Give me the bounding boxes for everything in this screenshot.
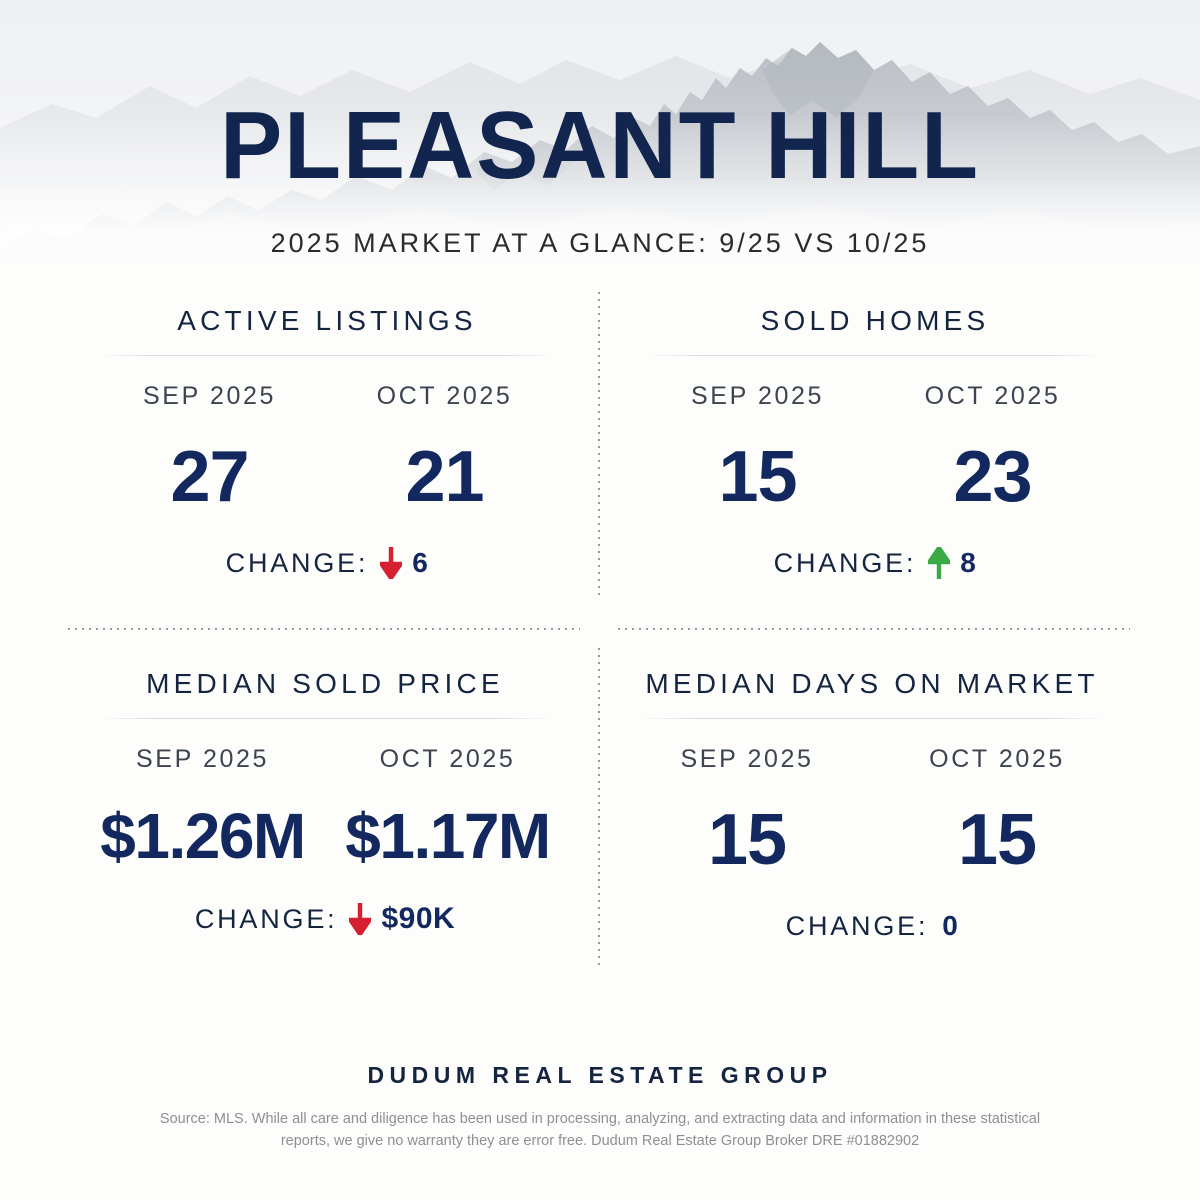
arrow-down-icon bbox=[380, 547, 402, 579]
month-label-right: OCT 2025 bbox=[325, 745, 570, 774]
card-title: SOLD HOMES bbox=[640, 305, 1110, 337]
value-left: 27 bbox=[92, 441, 327, 513]
card-rule bbox=[107, 355, 547, 356]
card-rule bbox=[105, 718, 545, 719]
disclaimer-text: Source: MLS. While all care and diligenc… bbox=[150, 1108, 1050, 1153]
card-rule bbox=[655, 355, 1095, 356]
card-values: 27 21 bbox=[92, 441, 562, 513]
month-label-left: SEP 2025 bbox=[80, 745, 325, 774]
value-right: $1.17M bbox=[325, 804, 570, 868]
divider-vertical-bottom bbox=[598, 648, 600, 970]
page-subtitle: 2025 MARKET AT A GLANCE: 9/25 VS 10/25 bbox=[0, 228, 1200, 259]
change-label: CHANGE: bbox=[786, 911, 929, 942]
month-label-left: SEP 2025 bbox=[622, 745, 872, 774]
change-label: CHANGE: bbox=[226, 548, 369, 579]
card-title: ACTIVE LISTINGS bbox=[92, 305, 562, 337]
value-left: 15 bbox=[622, 804, 872, 876]
card-change-row: CHANGE: 6 bbox=[92, 547, 562, 579]
value-right: 15 bbox=[872, 804, 1122, 876]
card-month-labels: SEP 2025 OCT 2025 bbox=[640, 382, 1110, 411]
value-right: 21 bbox=[327, 441, 562, 513]
card-month-labels: SEP 2025 OCT 2025 bbox=[92, 382, 562, 411]
value-left: 15 bbox=[640, 441, 875, 513]
divider-horizontal-right bbox=[618, 628, 1130, 630]
card-values: 15 23 bbox=[640, 441, 1110, 513]
brand-name: DUDUM REAL ESTATE GROUP bbox=[0, 1062, 1200, 1089]
divider-horizontal-left bbox=[68, 628, 580, 630]
change-label: CHANGE: bbox=[774, 548, 917, 579]
card-median-days-on-market: MEDIAN DAYS ON MARKET SEP 2025 OCT 2025 … bbox=[622, 668, 1122, 942]
change-label: CHANGE: bbox=[195, 904, 338, 935]
month-label-right: OCT 2025 bbox=[872, 745, 1122, 774]
change-value: 0 bbox=[942, 910, 958, 942]
card-title: MEDIAN SOLD PRICE bbox=[80, 668, 570, 700]
month-label-left: SEP 2025 bbox=[92, 382, 327, 411]
card-rule bbox=[647, 718, 1097, 719]
value-left: $1.26M bbox=[80, 804, 325, 868]
card-title: MEDIAN DAYS ON MARKET bbox=[622, 668, 1122, 700]
card-active-listings: ACTIVE LISTINGS SEP 2025 OCT 2025 27 21 … bbox=[92, 305, 562, 579]
card-month-labels: SEP 2025 OCT 2025 bbox=[80, 745, 570, 774]
card-month-labels: SEP 2025 OCT 2025 bbox=[622, 745, 1122, 774]
card-change-row: CHANGE: $90K bbox=[80, 902, 570, 936]
card-change-row: CHANGE: 0 bbox=[622, 910, 1122, 942]
arrow-up-icon bbox=[928, 547, 950, 579]
card-sold-homes: SOLD HOMES SEP 2025 OCT 2025 15 23 CHANG… bbox=[640, 305, 1110, 579]
card-values: 15 15 bbox=[622, 804, 1122, 876]
page-title: PLEASANT HILL bbox=[18, 98, 1182, 194]
divider-vertical-top bbox=[598, 292, 600, 600]
month-label-left: SEP 2025 bbox=[640, 382, 875, 411]
arrow-down-icon bbox=[349, 903, 371, 935]
infographic-page: PLEASANT HILL 2025 MARKET AT A GLANCE: 9… bbox=[0, 0, 1200, 1200]
change-value: 8 bbox=[960, 547, 976, 579]
card-median-sold-price: MEDIAN SOLD PRICE SEP 2025 OCT 2025 $1.2… bbox=[80, 668, 570, 936]
value-right: 23 bbox=[875, 441, 1110, 513]
month-label-right: OCT 2025 bbox=[875, 382, 1110, 411]
change-value: $90K bbox=[381, 902, 455, 936]
card-values: $1.26M $1.17M bbox=[80, 804, 570, 868]
month-label-right: OCT 2025 bbox=[327, 382, 562, 411]
change-value: 6 bbox=[412, 547, 428, 579]
card-change-row: CHANGE: 8 bbox=[640, 547, 1110, 579]
